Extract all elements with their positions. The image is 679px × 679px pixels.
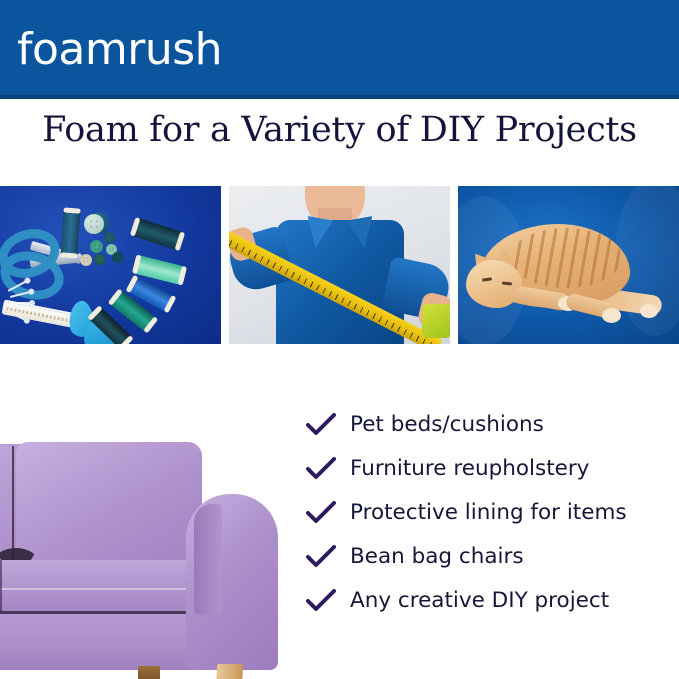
sofa-leg [215,664,243,679]
check-icon [306,413,350,437]
check-icon [306,589,350,613]
tape-measure-case [422,304,450,338]
button-illustration [104,232,115,243]
cat-paw [602,308,621,323]
sofa-seat-seam [0,588,206,590]
sofa-leg [138,666,160,679]
cat-head [466,260,522,308]
sewing-supplies-photo [0,186,221,344]
list-item: Bean bag chairs [306,536,679,577]
product-infographic: foamrush Foam for a Variety of DIY Proje… [0,0,679,679]
tape-measure-photo [229,186,450,344]
check-icon [306,545,350,569]
cat-on-cushion-photo [458,186,679,344]
page-title: Foam for a Variety of DIY Projects [0,108,679,152]
check-icon [306,501,350,525]
list-item-label: Pet beds/cushions [350,412,544,438]
sofa-seat [0,560,210,614]
sofa-arm-inner [194,504,222,614]
check-icon [306,457,350,481]
cat-fur-stripes [510,228,622,288]
list-item-label: Any creative DIY project [350,588,609,614]
button-illustration [90,240,103,253]
thread-spool [60,207,80,258]
header-divider [0,95,679,99]
list-item: Protective lining for items [306,492,679,533]
list-item: Furniture reupholstery [306,448,679,489]
button-illustration [84,214,104,234]
sofa-seat-seam [0,560,2,612]
lavender-sofa-illustration [0,418,290,679]
list-item-label: Protective lining for items [350,500,627,526]
photo-strip [0,186,679,344]
list-item-label: Bean bag chairs [350,544,524,570]
sofa-back-cushion [16,442,202,566]
button-illustration [112,252,123,263]
sofa-base [0,614,212,670]
button-illustration [94,254,105,265]
list-item: Any creative DIY project [306,580,679,621]
brand-header: foamrush [0,0,679,95]
list-item: Pet beds/cushions [306,404,679,445]
button-illustration [80,254,92,266]
thread-spool [130,217,185,251]
uses-list: Pet beds/cushions Furniture reupholstery… [306,404,679,624]
list-item-label: Furniture reupholstery [350,456,589,482]
brand-logo: foamrush [17,25,222,75]
cat-paw [640,304,658,318]
